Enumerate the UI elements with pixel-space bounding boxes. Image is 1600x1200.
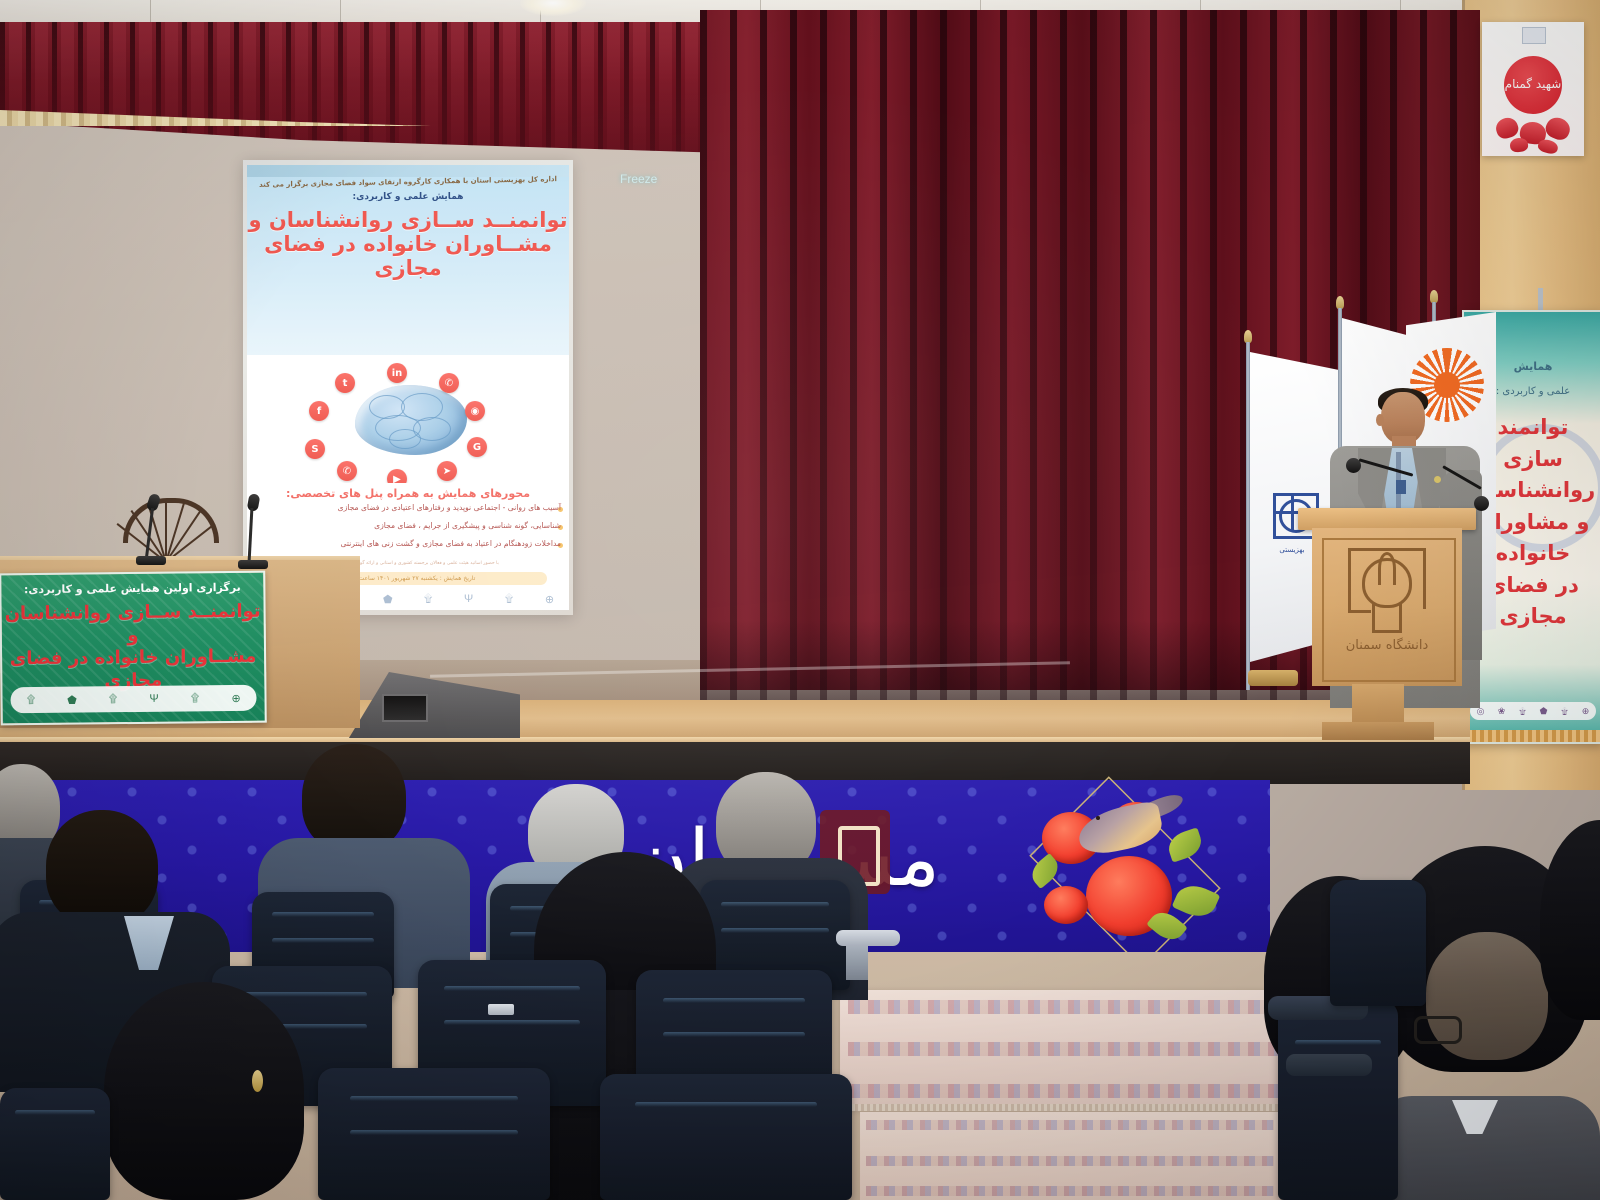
valance-fold [338,22,343,162]
attendee-head [46,810,158,926]
curtain-fold [820,10,827,700]
curtain-fold [1030,10,1037,700]
sponsor-logo: Ψ [145,690,162,707]
curtain-fold [760,10,767,700]
sponsor-logo: ⬟ [63,691,80,708]
whatsapp-icon: ✆ [337,461,357,481]
persian-rug [840,990,1310,1108]
valance-highlight [347,22,360,162]
slide-title: توانمنــد ســازی روانشناسان و مشــاوران … [247,208,569,280]
auditorium-seat[interactable] [600,1074,852,1200]
seat-armrest [1286,1054,1372,1076]
sponsor-logo: ⊕ [1579,705,1592,718]
curtain-fold [730,10,737,700]
brain-illustration [355,385,467,455]
slide-graphic-area: t in ✆ f ◉ S G ✆ ▶ ➤ [247,355,569,483]
valance-fold [520,22,525,162]
podium-top [1298,508,1476,530]
rug-fringe [840,1104,1310,1111]
persian-rug-second [860,1112,1280,1200]
table-microphone [128,494,174,570]
projector-freeze-label: Freeze [620,172,657,186]
valance-highlight [399,22,412,162]
valance-highlight [555,22,568,162]
slide-subtitle: همایش علمی و کاربردی: [247,192,569,202]
green-banner-title: توانمنــد ســازی روانشناسان و مشــاوران … [2,601,265,694]
podium-institution-label: دانشگاه سمنان [1322,638,1452,653]
gol-o-morgh-motif [1000,790,1250,950]
valance-fold [468,22,473,162]
curtain-fold [790,10,797,700]
valance-highlight [425,22,438,162]
auditorium-seat[interactable] [1330,880,1426,1006]
semnan-university-tulip-logo [1348,548,1426,634]
slide-axis-item: مداخلات زودهنگام در اعتیاد به فضای مجازی… [259,539,561,548]
valance-fold [364,22,369,162]
podium-base [1322,722,1434,740]
curtain-fold [970,10,977,700]
curtain-fold [1150,10,1157,700]
auditorium-seat[interactable] [0,1088,110,1200]
sponsor-logo: ۩ [1516,705,1529,718]
projection-screen: اداره کل بهزیستی استان با همکاری کارگروه… [243,160,573,615]
curtain-fold [1210,10,1217,700]
speaker-ear [1376,414,1384,426]
valance-fold [546,22,551,162]
sponsor-logo: ⬟ [378,590,397,609]
facebook-icon: f [309,401,329,421]
valance-fold [494,22,499,162]
auditorium-seat[interactable] [1278,1000,1398,1200]
curtain-fold [1090,10,1097,700]
hijab-brooch [252,1070,263,1092]
rollup-fringe [1464,730,1600,742]
twitter-icon: t [335,373,355,393]
valance-fold [676,22,681,162]
valance-highlight [477,22,490,162]
valance-highlight [607,22,620,162]
poster-caption: شهید گمنام [1482,77,1584,91]
curtain-fold [850,10,857,700]
monitor-grille [382,694,428,722]
attendee-hijab [104,982,304,1200]
curtain-fold [1060,10,1067,700]
valance-fold [416,22,421,162]
slide-axes-heading: محورهای همایش به همراه پنل های تخصصی: [247,487,569,500]
podium-microphone [1346,442,1416,502]
attendee-glasses [1414,1016,1462,1044]
attendee-head [302,744,406,852]
valance-highlight [685,22,698,162]
poster-header-logo [1522,27,1546,44]
slide-organizer-line: اداره کل بهزیستی استان با همکاری کارگروه… [247,175,569,189]
valance-highlight [503,22,516,162]
telegram-icon: ➤ [437,461,457,481]
sponsor-logo: ۩ [1558,705,1571,718]
valance-fold [390,22,395,162]
rollup-sponsor-logos: ◎ ❀ ۩ ⬟ ۩ ⊕ [1470,702,1596,720]
slide-axis-item: شناسایی، گونه شناسی و پیشگیری از جرایم ،… [259,521,561,530]
seat-armrest [846,946,868,980]
bird-eye [1096,816,1100,820]
slide-header: اداره کل بهزیستی استان با همکاری کارگروه… [247,165,569,355]
instagram-icon: ◉ [465,401,485,421]
green-banner-logos: ۩ ⬟ ۩ Ψ ۩ ⊕ [10,685,256,714]
sponsor-logo: ۩ [500,590,519,609]
valance-highlight [451,22,464,162]
podium-column [1352,684,1404,724]
sponsor-logo: ❀ [1495,705,1508,718]
stage-platform-face [0,742,1470,784]
sponsor-logo: ۩ [419,590,438,609]
curtain-fold [1120,10,1127,700]
valance-highlight [659,22,672,162]
linkedin-icon: in [387,363,407,383]
curtain-fold [700,10,707,700]
sponsor-logo: ⬟ [1537,705,1550,718]
valance-highlight [581,22,594,162]
phone-icon: ✆ [439,373,459,393]
valance-fold [624,22,629,162]
table-microphone [232,494,278,574]
skype-icon: S [305,439,325,459]
valance-fold [442,22,447,162]
valance-fold [650,22,655,162]
curtain-fold [1000,10,1007,700]
sponsor-logo: ۩ [186,690,203,707]
attendee-hijab [1540,820,1600,1020]
sponsor-logo: ⊕ [540,590,559,609]
valance-fold [598,22,603,162]
curtain-fold [940,10,947,700]
green-banner-intro: برگزاری اولین همایش علمی و کاربردی: [1,581,263,597]
sponsor-logo: ⊕ [227,689,244,706]
auditorium-photo: اداره کل بهزیستی استان با همکاری کارگروه… [0,0,1600,1200]
sponsor-logo: ۩ [104,691,121,708]
curtain-fold [880,10,887,700]
sponsor-logo: ۩ [22,691,39,708]
curtain-fold [1180,10,1187,700]
martyr-poster: شهید گمنام [1482,22,1584,156]
valance-highlight [529,22,542,162]
valance-highlight [373,22,386,162]
seat-armrest [836,930,900,946]
projected-slide: اداره کل بهزیستی استان با همکاری کارگروه… [247,165,569,610]
flag-base [1248,670,1298,686]
google-plus-icon: G [467,437,487,457]
auditorium-seat[interactable] [318,1068,550,1200]
valance-highlight [633,22,646,162]
sponsor-logo: Ψ [459,590,478,609]
green-conference-banner: برگزاری اولین همایش علمی و کاربردی: توان… [0,571,267,726]
curtain-fold [910,10,917,700]
valance-fold [572,22,577,162]
slide-axis-item: آسیب های روانی - اجتماعی نوپدید و رفتاره… [259,503,561,512]
